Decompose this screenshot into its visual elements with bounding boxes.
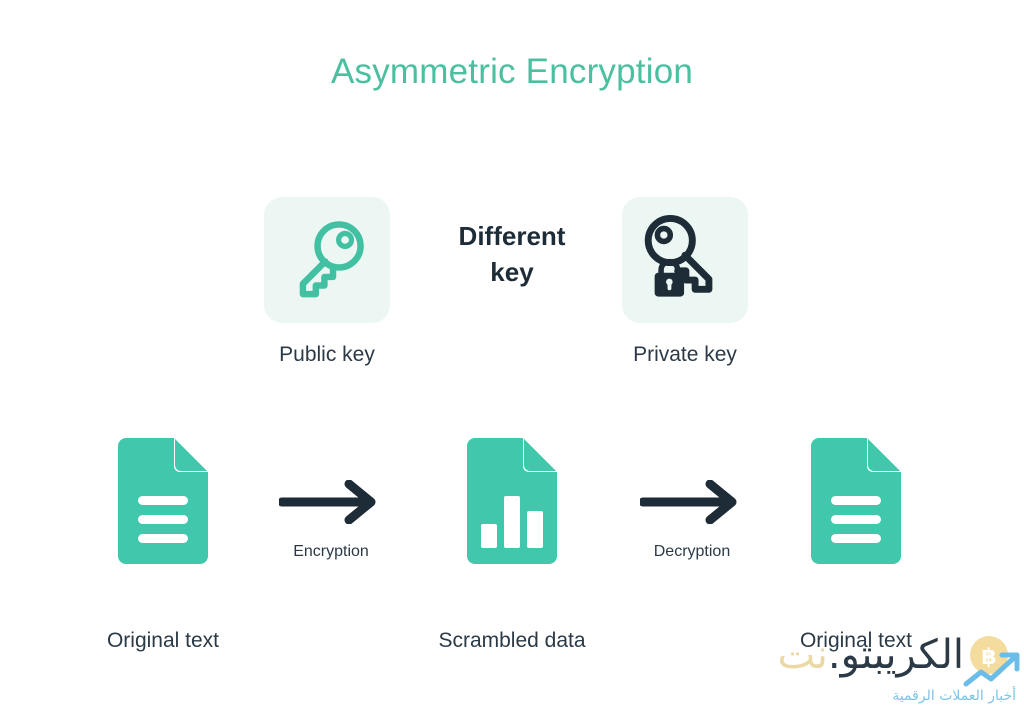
watermark-brand-main: الكريبتو.	[828, 632, 964, 678]
document-bars-icon	[457, 561, 567, 578]
watermark-brand-suffix: نت	[777, 632, 827, 678]
document-original-right	[801, 436, 911, 574]
arrow-right-icon	[640, 511, 745, 528]
padlock-icon	[655, 261, 684, 296]
site-watermark: الكريبتو.نت ฿ أخبار العملات الرقمية	[746, 632, 1024, 718]
public-key-tile	[264, 197, 390, 323]
page-title: Asymmetric Encryption	[0, 52, 1024, 92]
encryption-arrow-group: Encryption	[251, 480, 411, 561]
different-key-line1: Different	[412, 219, 612, 255]
diagram-canvas: Asymmetric Encryption Public key Differe…	[0, 0, 1024, 718]
encryption-arrow-label: Encryption	[251, 543, 411, 561]
different-key-line2: key	[412, 255, 612, 291]
decryption-arrow-group: Decryption	[612, 480, 772, 561]
svg-text:฿: ฿	[981, 645, 996, 670]
decryption-arrow-label: Decryption	[612, 543, 772, 561]
document-lines-icon	[108, 561, 218, 578]
private-key-caption: Private key	[565, 343, 805, 367]
watermark-tagline: أخبار العملات الرقمية	[892, 688, 1016, 704]
watermark-brand-text: الكريبتو.نت	[777, 632, 964, 678]
different-key-label: Different key	[412, 219, 612, 291]
key-locked-icon	[639, 212, 731, 309]
public-key-caption: Public key	[207, 343, 447, 367]
document-lines-icon	[801, 561, 911, 578]
caption-scrambled: Scrambled data	[362, 629, 662, 653]
watermark-brand-row: الكريبتو.نت ฿	[746, 632, 1024, 680]
arrow-right-icon	[279, 511, 384, 528]
private-key-tile	[622, 197, 748, 323]
document-scrambled	[457, 436, 567, 574]
watermark-logo-mark: ฿	[962, 634, 1024, 690]
caption-original-left: Original text	[13, 629, 313, 653]
key-outline-icon	[284, 215, 370, 306]
document-original-left	[108, 436, 218, 574]
